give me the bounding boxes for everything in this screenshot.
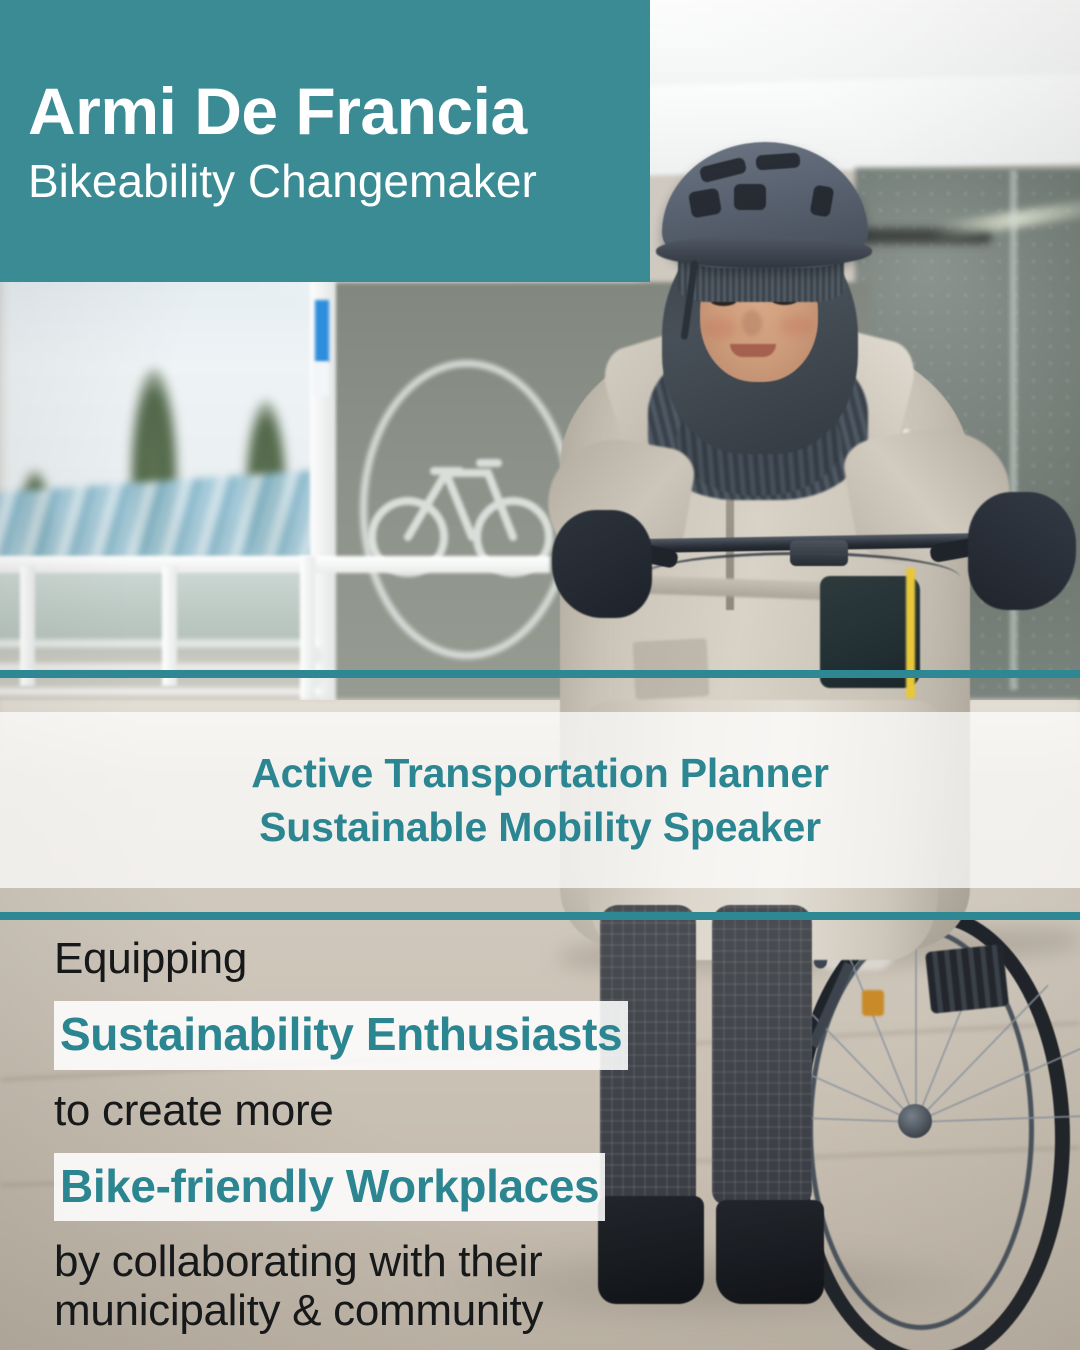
tagline-highlight-2-wrap: Bike-friendly Workplaces bbox=[54, 1153, 654, 1221]
tagline-highlight-1-wrap: Sustainability Enthusiasts bbox=[54, 1001, 654, 1069]
titles-band: Active Transportation Planner Sustainabl… bbox=[0, 712, 1080, 888]
tagline-highlight-1: Sustainability Enthusiasts bbox=[54, 1001, 628, 1069]
divider-rule-top bbox=[0, 670, 1080, 678]
title-line-1: Active Transportation Planner bbox=[251, 746, 828, 800]
speaker-name: Armi De Francia bbox=[28, 78, 650, 144]
value-proposition-block: Equipping Sustainability Enthusiasts to … bbox=[54, 934, 654, 1336]
tagline-line-3: to create more bbox=[54, 1086, 654, 1135]
divider-rule-bottom bbox=[0, 912, 1080, 920]
speaker-name-banner: Armi De Francia Bikeability Changemaker bbox=[0, 0, 650, 282]
tagline-line-5: by collaborating with their bbox=[54, 1237, 654, 1286]
title-line-2: Sustainable Mobility Speaker bbox=[259, 800, 821, 854]
tagline-line-6: municipality & community bbox=[54, 1286, 654, 1335]
tagline-highlight-2: Bike-friendly Workplaces bbox=[54, 1153, 605, 1221]
speaker-tagline: Bikeability Changemaker bbox=[28, 158, 650, 204]
glove-left bbox=[552, 510, 652, 618]
tagline-line-1: Equipping bbox=[54, 934, 654, 983]
glove-right bbox=[968, 492, 1076, 610]
speaker-promo-card: Armi De Francia Bikeability Changemaker … bbox=[0, 0, 1080, 1350]
